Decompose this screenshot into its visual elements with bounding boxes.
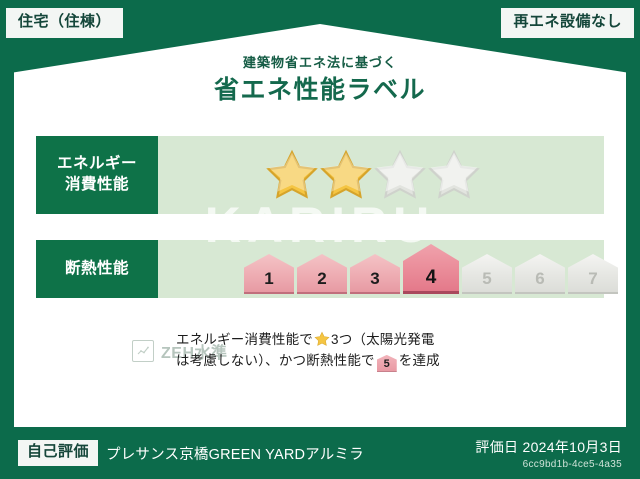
- note-star-icon: [314, 331, 330, 347]
- insulation-performance-label: 断熱性能: [36, 240, 158, 298]
- note-part1: エネルギー消費性能で: [176, 332, 313, 347]
- self-evaluation-badge: 自己評価: [18, 440, 98, 466]
- badge-level-number: 2: [317, 269, 326, 289]
- star-rating: [158, 149, 480, 201]
- insulation-level-badge: 7: [568, 254, 618, 294]
- zeh-standard-block: ZEH水準: [36, 339, 158, 363]
- badge-level-number: 5: [482, 269, 491, 289]
- footer-right: 評価日 2024年10月3日 6cc9bd1b-4ce5-4a35: [475, 437, 622, 470]
- insulation-performance-body: 1234567: [158, 240, 618, 298]
- building-name: プレサンス京橋GREEN YARDアルミラ: [106, 443, 364, 464]
- insulation-level-badge: 3: [350, 254, 400, 294]
- badge-level-number: 1: [264, 269, 273, 289]
- star-filled-icon: [266, 149, 318, 201]
- insulation-level-scale: 1234567: [158, 244, 618, 294]
- footer-bar: 自己評価 プレサンス京橋GREEN YARDアルミラ 評価日 2024年10月3…: [0, 427, 640, 479]
- note-level-badge: 5: [377, 355, 397, 372]
- insulation-performance-row: 断熱性能 1234567: [36, 240, 604, 298]
- badge-level-number: 7: [588, 269, 597, 289]
- document-id: 6cc9bd1b-4ce5-4a35: [475, 459, 622, 470]
- badge-level-number: 4: [426, 267, 437, 289]
- note-part4: を達成: [399, 353, 440, 368]
- insulation-level-badge: 1: [244, 254, 294, 294]
- tag-building-type: 住宅（住棟）: [6, 8, 123, 38]
- insulation-level-badge: 6: [515, 254, 565, 294]
- note-part2: 3つ（太陽光発電: [331, 332, 435, 347]
- insulation-label-text: 断熱性能: [65, 259, 129, 280]
- footer-left: 自己評価 プレサンス京橋GREEN YARDアルミラ: [18, 440, 364, 466]
- achievement-note: エネルギー消費性能で 3つ（太陽光発電 は考慮しない）、かつ断熱性能で5を達成: [176, 330, 604, 372]
- badge-level-number: 3: [370, 269, 379, 289]
- star-filled-icon: [320, 149, 372, 201]
- energy-label-line2: 消費性能: [65, 175, 129, 196]
- insulation-level-badge: 5: [462, 254, 512, 294]
- energy-performance-row: エネルギー 消費性能: [36, 136, 604, 214]
- insulation-level-badge: 2: [297, 254, 347, 294]
- energy-label-line1: エネルギー: [57, 154, 137, 175]
- tag-renewable-energy: 再エネ設備なし: [501, 8, 634, 38]
- insulation-level-badge-current: 4: [403, 244, 459, 294]
- star-empty-icon: [374, 149, 426, 201]
- energy-label-root: 住宅（住棟） 再エネ設備なし 建築物省エネ法に基づく 省エネ性能ラベル KARI…: [0, 0, 640, 479]
- badge-level-number: 6: [535, 269, 544, 289]
- evaluation-date: 評価日 2024年10月3日: [475, 437, 622, 457]
- energy-performance-label: エネルギー 消費性能: [36, 136, 158, 214]
- star-empty-icon: [428, 149, 480, 201]
- note-part3: は考慮しない）、かつ断熱性能で: [176, 353, 375, 368]
- zeh-note-area: ZEH水準 エネルギー消費性能で 3つ（太陽光発電 は考慮しない）、かつ断熱性能…: [36, 330, 604, 372]
- zeh-chart-icon: [132, 340, 154, 362]
- energy-performance-body: [158, 136, 604, 214]
